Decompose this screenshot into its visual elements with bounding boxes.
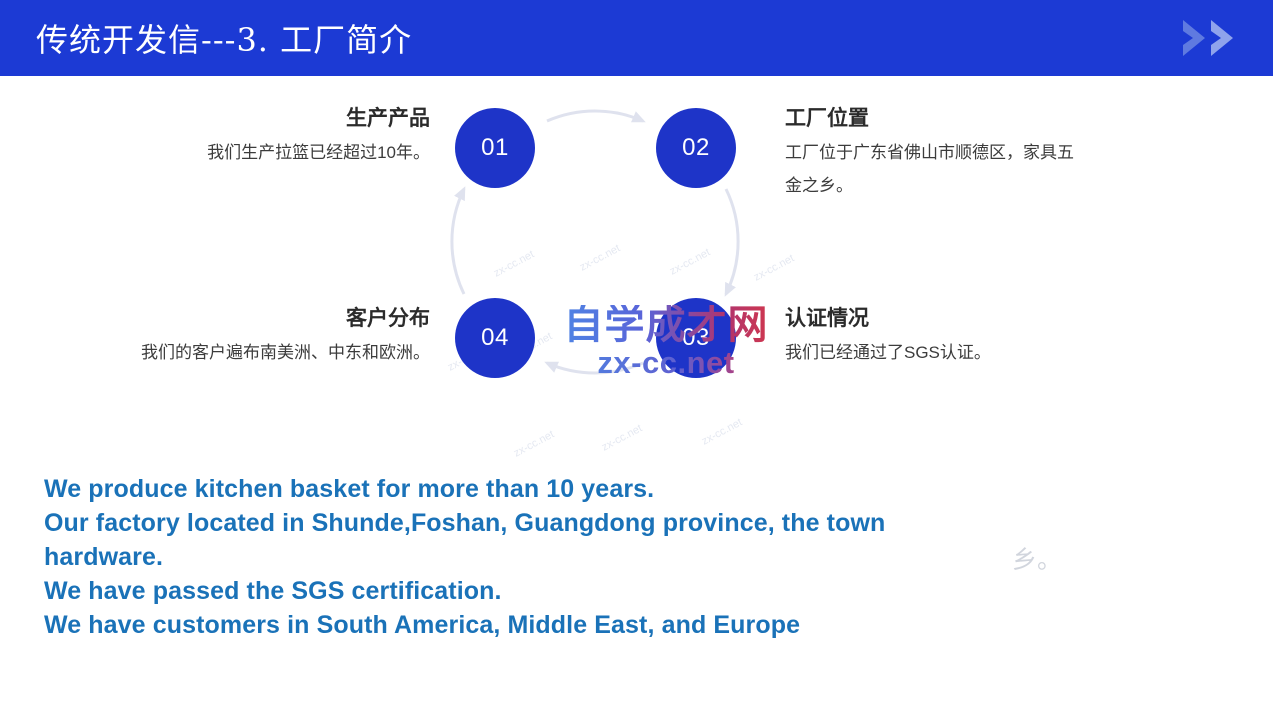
brand-watermark-cn: 自学成才网	[536, 305, 796, 345]
block-product-title: 生产产品	[120, 105, 430, 133]
brand-watermark-url: zx-cc.net	[536, 347, 796, 378]
block-certification: 认证情况 我们已经通过了SGS认证。	[785, 305, 1105, 369]
block-customer-title: 客户分布	[120, 305, 430, 333]
cycle-node-01[interactable]: 01	[455, 108, 535, 188]
block-product: 生产产品 我们生产拉篮已经超过10年。	[120, 105, 430, 169]
english-line: We produce kitchen basket for more than …	[44, 472, 1054, 506]
cycle-node-label: 02	[682, 134, 710, 162]
ghost-text-artifact: 乡。	[1012, 540, 1062, 576]
watermark-tile: zx-cc.net	[700, 416, 744, 447]
english-line: We have customers in South America, Midd…	[44, 608, 1054, 642]
english-summary: We produce kitchen basket for more than …	[44, 472, 1054, 642]
cycle-node-04[interactable]: 04	[455, 298, 535, 378]
brand-watermark: 自学成才网 zx-cc.net	[536, 305, 796, 378]
block-location-title: 工厂位置	[785, 105, 1085, 133]
block-location: 工厂位置 工厂位于广东省佛山市顺德区，家具五金之乡。	[785, 105, 1085, 202]
cycle-node-label: 04	[481, 324, 509, 352]
double-chevron-right-icon	[1177, 14, 1249, 62]
page-title: 传统开发信---3. 工厂简介	[36, 0, 412, 76]
cycle-node-label: 01	[481, 134, 509, 162]
english-line: hardware.	[44, 540, 1054, 574]
block-location-body: 工厂位于广东省佛山市顺德区，家具五金之乡。	[785, 136, 1085, 202]
block-certification-body: 我们已经通过了SGS认证。	[785, 336, 1105, 369]
slide-canvas: zx-cc.net zx-cc.net zx-cc.net zx-cc.net …	[0, 0, 1273, 707]
block-certification-title: 认证情况	[785, 305, 1105, 333]
block-product-body: 我们生产拉篮已经超过10年。	[120, 136, 430, 169]
english-line: We have passed the SGS certification.	[44, 574, 1054, 608]
watermark-tile: zx-cc.net	[600, 422, 644, 453]
slide-header-bar: 传统开发信---3. 工厂简介	[0, 0, 1273, 76]
watermark-tile: zx-cc.net	[512, 428, 556, 459]
english-line: Our factory located in Shunde,Foshan, Gu…	[44, 506, 1054, 540]
cycle-node-02[interactable]: 02	[656, 108, 736, 188]
block-customer-body: 我们的客户遍布南美洲、中东和欧洲。	[120, 336, 430, 369]
block-customer: 客户分布 我们的客户遍布南美洲、中东和欧洲。	[120, 305, 430, 369]
